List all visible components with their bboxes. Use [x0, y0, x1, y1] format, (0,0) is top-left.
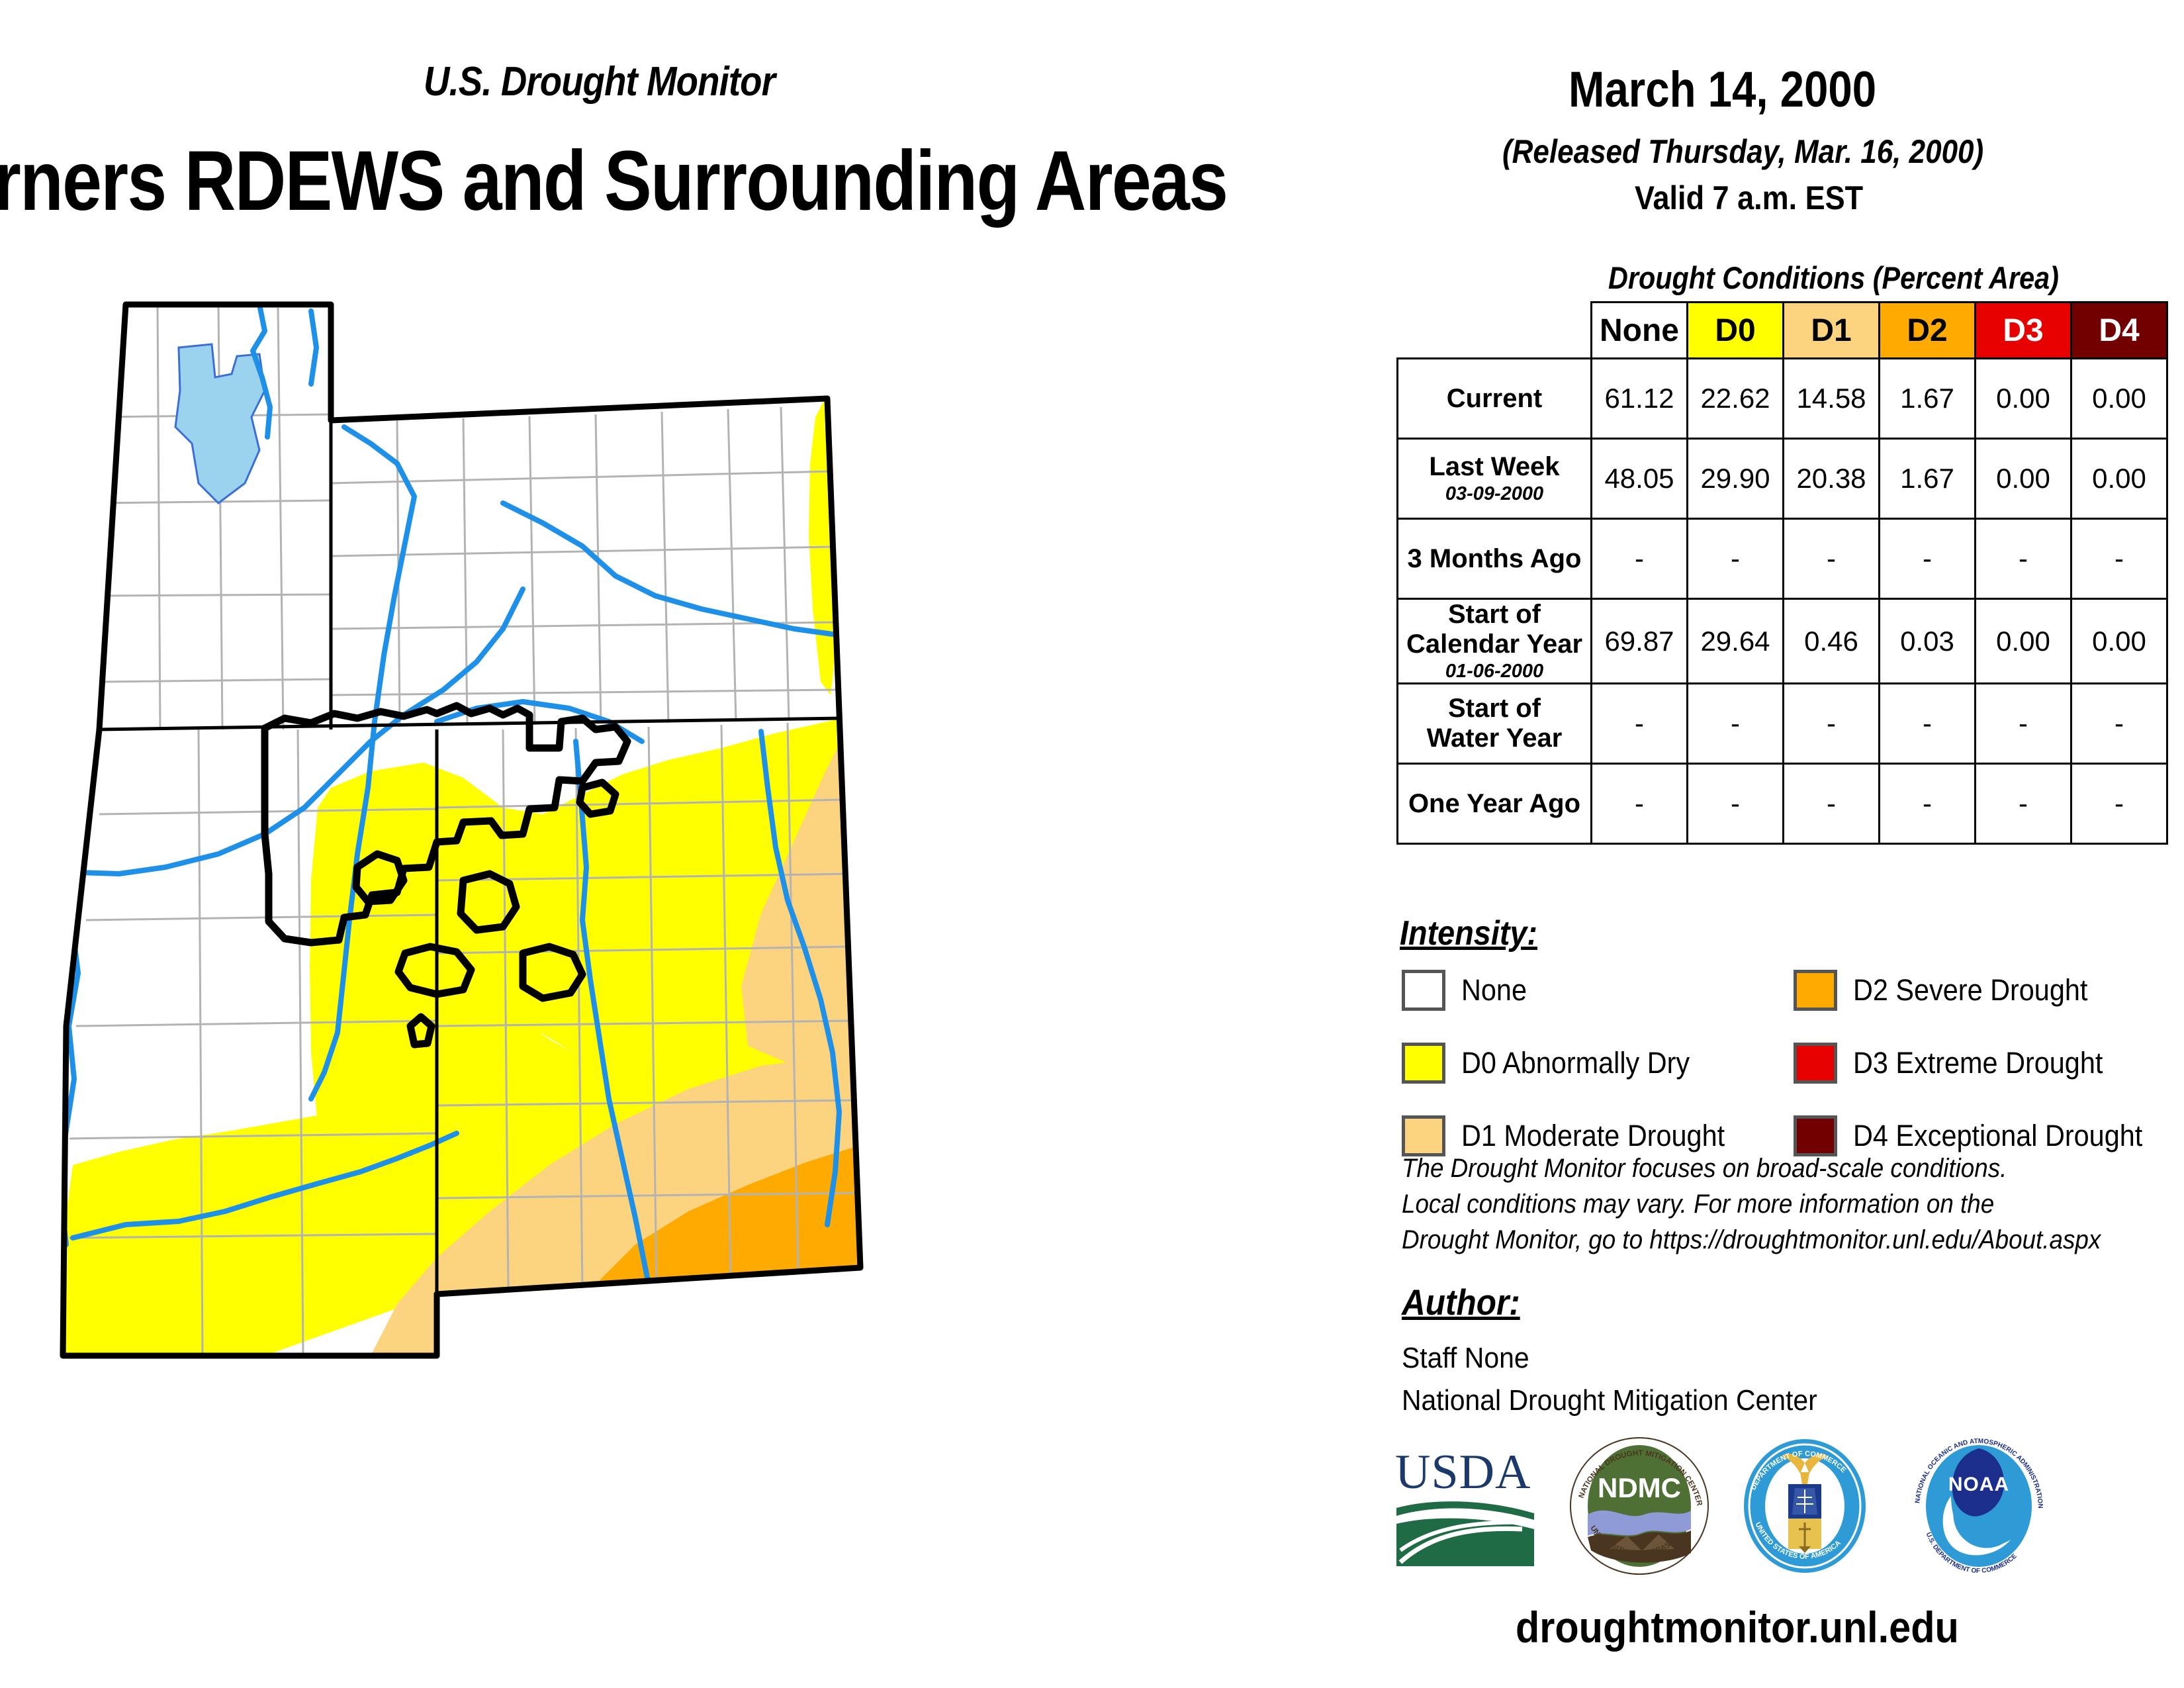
disclaimer-line-1: The Drought Monitor focuses on broad-sca…: [1402, 1150, 2101, 1186]
table-row: 3 Months Ago - - - - - -: [1398, 519, 2167, 599]
disclaimer-line-3: Drought Monitor, go to https://droughtmo…: [1402, 1222, 2101, 1258]
legend-label: D1 Moderate Drought: [1461, 1119, 1725, 1153]
legend-label: D3 Extreme Drought: [1853, 1046, 2103, 1080]
author-name: Staff None: [1402, 1337, 1817, 1380]
cell: 0.03: [1880, 599, 1976, 684]
legend-item-d0: D0 Abnormally Dry: [1402, 1039, 1748, 1087]
cell: -: [1784, 764, 1880, 844]
legend-label: D4 Exceptional Drought: [1853, 1119, 2142, 1153]
svg-text:NDMC: NDMC: [1598, 1472, 1681, 1503]
cell: 0.00: [2071, 439, 2167, 519]
author-block: Staff None National Drought Mitigation C…: [1402, 1337, 1817, 1422]
legend-title: Intensity:: [1400, 914, 1537, 953]
author-heading: Author:: [1402, 1281, 1520, 1323]
usda-logo: USDA: [1390, 1436, 1542, 1572]
cell: 14.58: [1784, 359, 1880, 439]
table-row: Start ofWater Year - - - - - -: [1398, 684, 2167, 764]
legend-item-none: None: [1402, 966, 1748, 1014]
drought-conditions-table: None D0 D1 D2 D3 D4 Current 61.12 22.62 …: [1396, 301, 2168, 845]
cell: 1.67: [1880, 439, 1976, 519]
drought-map[interactable]: [0, 285, 1363, 1542]
cell: -: [1592, 764, 1688, 844]
legend-item-d2: D2 Severe Drought: [1794, 966, 2167, 1014]
row-label-one-year-ago: One Year Ago: [1398, 764, 1592, 844]
cell: 61.12: [1592, 359, 1688, 439]
author-org: National Drought Mitigation Center: [1402, 1380, 1817, 1422]
row-label-last-week: Last Week03-09-2000: [1398, 439, 1592, 519]
disclaimer-line-2: Local conditions may vary. For more info…: [1402, 1186, 2101, 1222]
cell: 29.64: [1688, 599, 1784, 684]
map-date: March 14, 2000: [1569, 61, 1876, 118]
logo-row: USDA NDMC NATIONAL DROUGHT MITIGATION CE…: [1390, 1436, 2138, 1582]
col-header-d4: D4: [2071, 303, 2167, 359]
col-header-d2: D2: [1880, 303, 1976, 359]
cell: 69.87: [1592, 599, 1688, 684]
cell: -: [2071, 684, 2167, 764]
table-row: Last Week03-09-2000 48.05 29.90 20.38 1.…: [1398, 439, 2167, 519]
cell: -: [1976, 764, 2071, 844]
cell: 29.90: [1688, 439, 1784, 519]
cell: -: [1880, 764, 1976, 844]
col-header-d3: D3: [1976, 303, 2071, 359]
col-header-d1: D1: [1784, 303, 1880, 359]
ndmc-logo: NDMC NATIONAL DROUGHT MITIGATION CENTER …: [1569, 1436, 1711, 1575]
valid-time: Valid 7 a.m. EST: [1635, 179, 1863, 217]
cell: 0.00: [2071, 359, 2167, 439]
legend-label: D0 Abnormally Dry: [1461, 1046, 1690, 1080]
cell: -: [1880, 684, 1976, 764]
cell: -: [1880, 519, 1976, 599]
legend-label: None: [1461, 973, 1527, 1008]
legend-label: D2 Severe Drought: [1853, 973, 2087, 1008]
cell: -: [1976, 519, 2071, 599]
page-title: Corners RDEWS and Surrounding Areas: [0, 132, 1227, 230]
cell: -: [1592, 519, 1688, 599]
department-of-commerce-seal: DEPARTMENT OF COMMERCE UNITED STATES OF …: [1741, 1436, 1870, 1575]
cell: 0.00: [1976, 439, 2071, 519]
table-row: One Year Ago - - - - - -: [1398, 764, 2167, 844]
cell: 20.38: [1784, 439, 1880, 519]
release-date: (Released Thursday, Mar. 16, 2000): [1502, 132, 1983, 171]
cell: -: [2071, 519, 2167, 599]
table-header-row: None D0 D1 D2 D3 D4: [1398, 303, 2167, 359]
cell: 1.67: [1880, 359, 1976, 439]
table-row: Current 61.12 22.62 14.58 1.67 0.00 0.00: [1398, 359, 2167, 439]
legend-swatch-d0: [1402, 1043, 1445, 1084]
cell: -: [1688, 764, 1784, 844]
cell: -: [1688, 519, 1784, 599]
site-url[interactable]: droughtmonitor.unl.edu: [1516, 1602, 1959, 1652]
table-row: Start ofCalendar Year01-06-2000 69.87 29…: [1398, 599, 2167, 684]
cell: -: [1592, 684, 1688, 764]
col-header-none: None: [1592, 303, 1688, 359]
cell: -: [1976, 684, 2071, 764]
svg-text:NOAA: NOAA: [1948, 1474, 2009, 1495]
row-label-current: Current: [1398, 359, 1592, 439]
cell: -: [1688, 684, 1784, 764]
legend-swatch-none: [1402, 970, 1445, 1011]
col-header-d0: D0: [1688, 303, 1784, 359]
noaa-logo: NOAA NATIONAL OCEANIC AND ATMOSPHERIC AD…: [1913, 1436, 2045, 1575]
row-label-3-months-ago: 3 Months Ago: [1398, 519, 1592, 599]
cell: 0.00: [2071, 599, 2167, 684]
table-corner-cell: [1398, 303, 1592, 359]
disclaimer: The Drought Monitor focuses on broad-sca…: [1402, 1150, 2101, 1258]
row-label-start-of-water-year: Start ofWater Year: [1398, 684, 1592, 764]
row-label-start-of-calendar-year: Start ofCalendar Year01-06-2000: [1398, 599, 1592, 684]
page-subtitle: U.S. Drought Monitor: [424, 58, 775, 105]
table-caption: Drought Conditions (Percent Area): [1608, 259, 2059, 296]
cell: -: [1784, 519, 1880, 599]
legend-item-d3: D3 Extreme Drought: [1794, 1039, 2167, 1087]
cell: -: [2071, 764, 2167, 844]
cell: -: [1784, 684, 1880, 764]
cell: 0.46: [1784, 599, 1880, 684]
cell: 0.00: [1976, 359, 2071, 439]
cell: 22.62: [1688, 359, 1784, 439]
legend-swatch-d2: [1794, 970, 1837, 1011]
cell: 48.05: [1592, 439, 1688, 519]
svg-text:USDA: USDA: [1395, 1445, 1531, 1499]
cell: 0.00: [1976, 599, 2071, 684]
legend-swatch-d3: [1794, 1043, 1837, 1084]
